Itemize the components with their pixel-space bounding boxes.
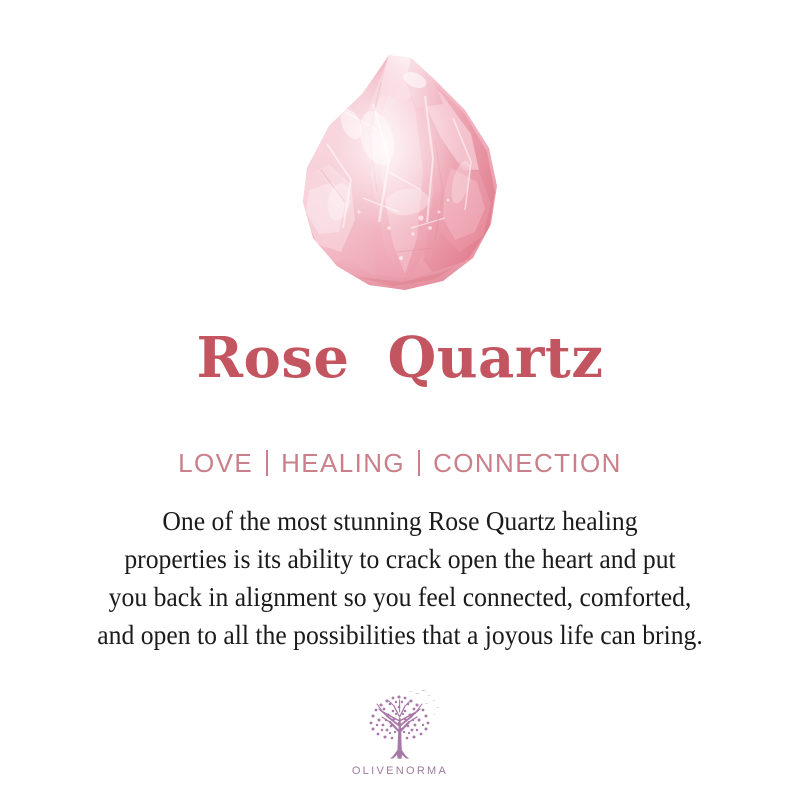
brand-logo: OLIVENORMA bbox=[0, 688, 800, 777]
rose-quartz-crystal-icon bbox=[293, 52, 507, 292]
description-line: One of the most stunning Rose Quartz hea… bbox=[49, 502, 752, 540]
keyword-separator bbox=[266, 450, 268, 476]
hero-section bbox=[0, 0, 800, 300]
description-line: you back in alignment so you feel connec… bbox=[49, 578, 752, 616]
keyword-healing: HEALING bbox=[281, 450, 405, 476]
rose-quartz-crystal-image bbox=[293, 52, 507, 292]
product-info-card: Rose Quartz LOVE HEALING CONNECTION One … bbox=[0, 0, 800, 800]
tree-of-life-icon bbox=[357, 688, 443, 762]
description-line: properties is its ability to crack open … bbox=[49, 540, 752, 578]
page-title: Rose Quartz bbox=[197, 330, 604, 386]
keyword-love: LOVE bbox=[178, 450, 253, 476]
description-paragraph: One of the most stunning Rose Quartz hea… bbox=[30, 502, 770, 654]
keyword-connection: CONNECTION bbox=[433, 450, 622, 476]
keyword-separator bbox=[418, 450, 420, 476]
keyword-row: LOVE HEALING CONNECTION bbox=[178, 450, 622, 476]
description-line: and open to all the possibilities that a… bbox=[49, 616, 752, 654]
brand-wordmark: OLIVENORMA bbox=[352, 765, 448, 777]
